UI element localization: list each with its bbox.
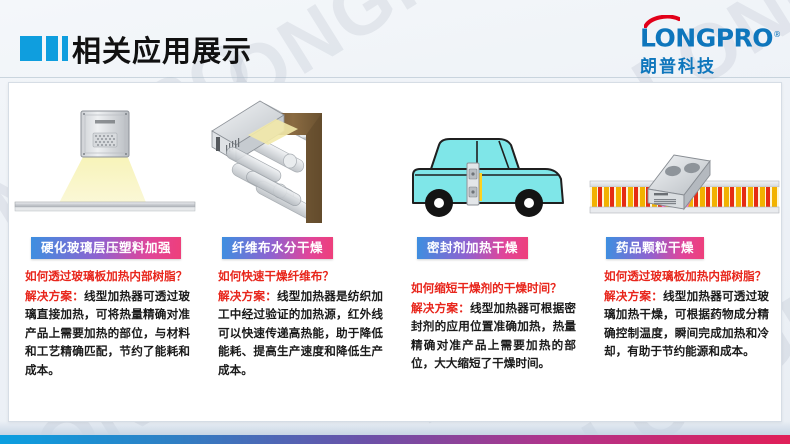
panel-question: 如何透过玻璃板加热内部树脂？ [25,267,190,286]
panel-solution-label: 解决方案： [218,289,277,303]
panel-badge: 纤维布水分干燥 [222,237,333,259]
company-logo: LONGPRO® 朗普科技 [640,22,772,72]
application-panels: 硬化玻璃层压塑料加强 如何透过玻璃板加热内部树脂？ 解决方案：线型加热器可透过玻… [9,83,781,421]
header: 相关应用展示 LONGPRO® 朗普科技 [0,0,790,78]
footer-shadow [0,421,790,435]
application-panel-1: 硬化玻璃层压塑料加强 如何透过玻璃板加热内部树脂？ 解决方案：线型加热器可透过玻… [9,83,202,421]
content-card: 硬化玻璃层压塑料加强 如何透过玻璃板加热内部树脂？ 解决方案：线型加热器可透过玻… [8,82,782,422]
panel-solution-label: 解决方案： [411,301,470,315]
application-panel-4: 药品颗粒干燥 如何透过玻璃板加热内部树脂？ 解决方案：线型加热器可透过玻璃加热干… [588,83,781,421]
page-title: 相关应用展示 [72,28,252,70]
illustration-car-sealant-drying [395,83,588,235]
panel-question: 如何快速干燥纤维布？ [218,267,383,286]
panel-solution-label: 解决方案： [604,289,663,303]
logo-wordmark: LONGPRO® [640,22,772,51]
logo-chinese-name: 朗普科技 [640,52,772,77]
accent-bar-medium [46,36,58,61]
panel-badge: 硬化玻璃层压塑料加强 [31,237,181,259]
panel-badge: 密封剂加热干燥 [417,237,528,259]
panel-copy: 如何快速干燥纤维布？ 解决方案：线型加热器是纺织加工中经过验证的加热源，红外线可… [218,267,383,379]
panel-copy: 如何透过玻璃板加热内部树脂？ 解决方案：线型加热器可透过玻璃直接加热，可将热量精… [25,267,190,379]
accent-bar-large [20,36,42,61]
panel-badge: 药品颗粒干燥 [606,237,704,259]
illustration-fabric-drying [202,83,395,235]
panel-solution-label: 解决方案： [25,289,84,303]
accent-bar-small [62,36,68,61]
logo-swoosh-icon [644,15,680,28]
panel-question: 如何透过玻璃板加热内部树脂？ [604,267,769,286]
panel-copy: 如何缩短干燥剂的干燥时间？ 解决方案：线型加热器可根据密封剂的应用位置准确加热，… [411,279,576,373]
panel-copy: 如何透过玻璃板加热内部树脂？ 解决方案：线型加热器可透过玻璃加热干燥，可根据药物… [604,267,769,361]
footer-gradient-bar [0,435,790,444]
application-panel-3: 密封剂加热干燥 如何缩短干燥剂的干燥时间？ 解决方案：线型加热器可根据密封剂的应… [395,83,588,421]
application-panel-2: 纤维布水分干燥 如何快速干燥纤维布？ 解决方案：线型加热器是纺织加工中经过验证的… [202,83,395,421]
illustration-pharma-granule-drying [588,83,781,235]
header-accent-bars [20,36,68,61]
logo-registered-mark: ® [773,30,781,39]
slide: LONGPRO LONGPRO LONGPRO LONGPRO LONGPRO … [0,0,790,444]
panel-question: 如何缩短干燥剂的干燥时间？ [411,279,576,298]
illustration-heater-glass-lamination [9,83,202,235]
